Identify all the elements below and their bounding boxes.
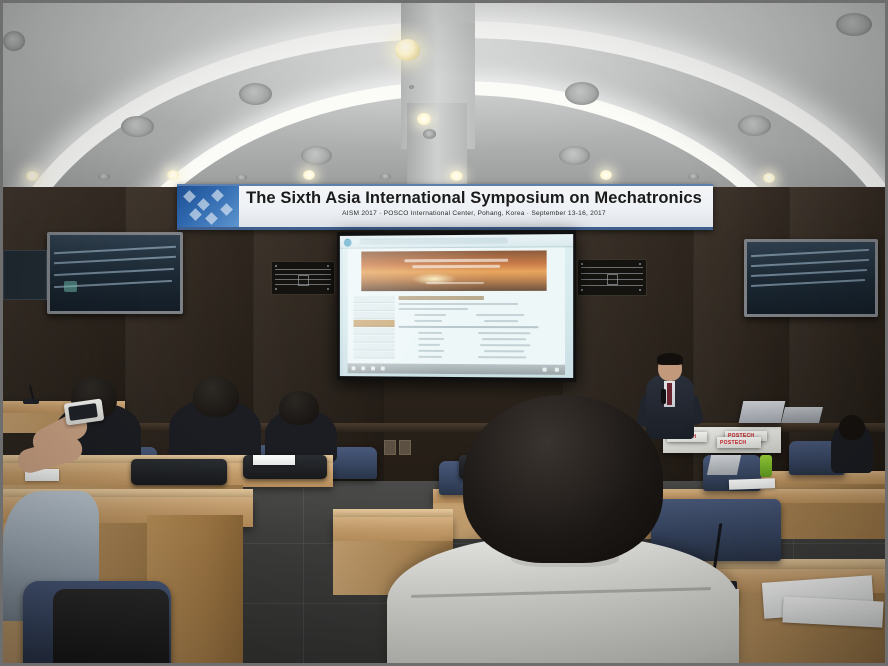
downlight-icon <box>26 171 39 181</box>
laptop-screen <box>739 401 786 423</box>
laptop-bag <box>131 459 227 485</box>
wall-recess-panel <box>3 250 47 300</box>
papers <box>253 455 295 465</box>
drink-bottle <box>760 455 772 477</box>
downlight-icon <box>303 170 315 180</box>
recessed-fixture-icon <box>301 146 332 165</box>
wall-monitor-right <box>744 239 878 317</box>
papers <box>729 478 775 490</box>
banner-title: The Sixth Asia International Symposium o… <box>239 188 709 209</box>
recessed-fixture-icon <box>98 173 110 180</box>
wall-monitor-left <box>47 232 183 314</box>
recessed-fixture-icon <box>121 116 154 137</box>
monitor-glint <box>64 281 77 292</box>
laptop-screen <box>781 407 823 423</box>
foreground-attendee-silhouette <box>401 395 721 666</box>
recessed-fixture-icon <box>738 115 771 136</box>
downlight-icon <box>450 171 463 181</box>
downlight-icon <box>395 39 420 61</box>
wall-speaker-left <box>271 261 335 295</box>
desk-sign-label: POSTECH <box>720 440 746 446</box>
papers <box>782 596 883 627</box>
attendee-head <box>279 391 319 425</box>
recessed-fixture-icon <box>380 173 391 180</box>
desk-sign: POSTECH <box>717 437 761 448</box>
conference-banner: The Sixth Asia International Symposium o… <box>177 184 713 230</box>
presenter-hair <box>657 353 683 365</box>
screen-frame <box>337 230 576 382</box>
banner-subtitle: AISM 2017 · POSCO International Center, … <box>239 210 709 217</box>
foreground-attendee-head <box>463 395 663 563</box>
downlight-icon <box>600 170 612 180</box>
downlight-icon <box>763 173 775 183</box>
conference-photo: The Sixth Asia International Symposium o… <box>0 0 888 666</box>
banner-decoration <box>177 186 239 227</box>
chair-back <box>53 589 169 666</box>
wall-outlet <box>384 440 396 455</box>
recessed-fixture-icon <box>3 31 25 51</box>
recessed-fixture-icon <box>559 146 590 165</box>
projection-screen <box>337 230 576 382</box>
recessed-fixture-icon <box>836 13 872 36</box>
wall-speaker-right <box>577 259 647 296</box>
recessed-fixture-icon <box>236 174 247 181</box>
attendee-head <box>193 377 239 417</box>
recessed-fixture-icon <box>409 85 414 89</box>
attendee-head <box>839 415 865 440</box>
downlight-icon <box>167 170 179 180</box>
recessed-fixture-icon <box>423 129 436 139</box>
recessed-fixture-icon <box>688 173 699 180</box>
recessed-fixture-icon <box>565 82 599 105</box>
recessed-fixture-icon <box>239 83 272 105</box>
microphone-base <box>23 399 39 404</box>
downlight-icon <box>417 113 431 125</box>
